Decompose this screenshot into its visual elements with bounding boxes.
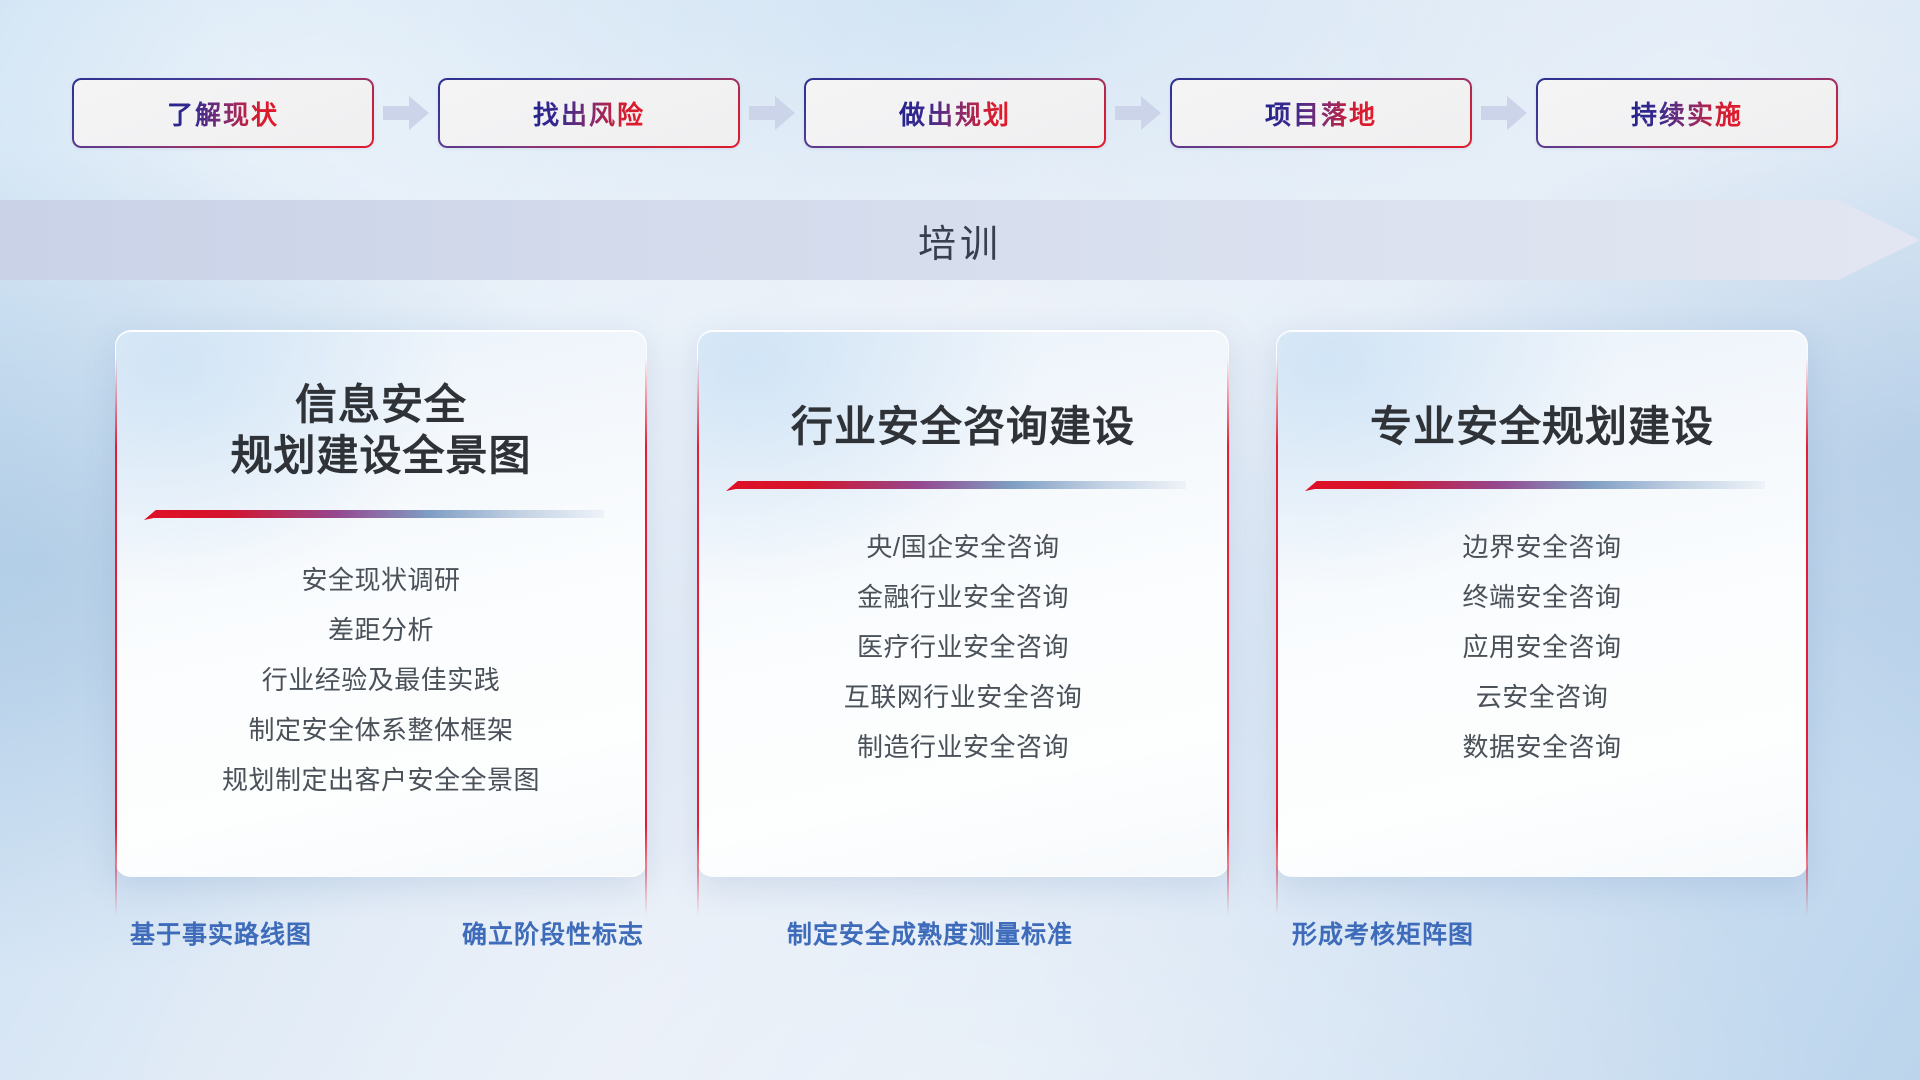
card-group: 信息安全 规划建设全景图 安全现状调研 差距分析 行 xyxy=(0,330,1920,880)
card-1-item-list: 安全现状调研 差距分析 行业经验及最佳实践 制定安全体系整体框架 规划制定出客户… xyxy=(116,521,646,805)
card-left-accent-edge xyxy=(115,357,117,916)
list-item: 互联网行业安全咨询 xyxy=(726,672,1200,722)
card-left-accent-edge xyxy=(697,357,699,916)
card-right-accent-edge xyxy=(1227,357,1229,916)
card-3-title: 专业安全规划建设 xyxy=(1277,331,1807,452)
process-step-2-label: 找出风险 xyxy=(533,95,645,132)
training-banner-label: 培训 xyxy=(0,200,1920,280)
process-step-1-label: 了解现状 xyxy=(167,95,279,132)
card-right-accent-edge xyxy=(645,357,647,916)
training-banner: 培训 xyxy=(0,200,1920,280)
process-step-5-label: 持续实施 xyxy=(1631,95,1743,132)
chevron-right-arrow-icon-2 xyxy=(740,78,804,148)
card-1-divider xyxy=(144,509,604,521)
card-information-security-blueprint[interactable]: 信息安全 规划建设全景图 安全现状调研 差距分析 行 xyxy=(115,330,647,877)
process-step-3[interactable]: 做出规划 xyxy=(804,78,1106,148)
card-left-accent-edge xyxy=(1276,357,1278,916)
card-1-title: 信息安全 规划建设全景图 xyxy=(116,331,646,481)
chevron-right-arrow-icon-3 xyxy=(1106,78,1170,148)
card-right-accent-edge xyxy=(1806,357,1808,916)
list-item: 终端安全咨询 xyxy=(1305,572,1779,622)
card-3-divider xyxy=(1305,480,1765,492)
list-item: 差距分析 xyxy=(144,605,618,655)
process-step-4[interactable]: 项目落地 xyxy=(1170,78,1472,148)
chevron-right-arrow-icon-4 xyxy=(1472,78,1536,148)
list-item: 医疗行业安全咨询 xyxy=(726,622,1200,672)
card-2-item-list: 央/国企安全咨询 金融行业安全咨询 医疗行业安全咨询 互联网行业安全咨询 制造行… xyxy=(698,492,1228,772)
footnote-row: 基于事实路线图 确立阶段性标志 制定安全成熟度测量标准 形成考核矩阵图 xyxy=(0,915,1920,959)
process-step-row: 了解现状 找出风险 做出规划 项目落地 持续实施 xyxy=(72,78,1848,148)
card-3-item-list: 边界安全咨询 终端安全咨询 应用安全咨询 云安全咨询 数据安全咨询 xyxy=(1277,492,1807,772)
process-step-2[interactable]: 找出风险 xyxy=(438,78,740,148)
card-professional-security-planning[interactable]: 专业安全规划建设 边界安全咨询 终端安全咨询 应用安 xyxy=(1276,330,1808,877)
list-item: 制定安全体系整体框架 xyxy=(144,705,618,755)
footnote-fact-roadmap: 基于事实路线图 xyxy=(130,915,312,951)
footnote-stage-milestones: 确立阶段性标志 xyxy=(462,915,644,951)
list-item: 边界安全咨询 xyxy=(1305,522,1779,572)
list-item: 应用安全咨询 xyxy=(1305,622,1779,672)
footnote-assessment-matrix: 形成考核矩阵图 xyxy=(1292,915,1474,951)
list-item: 安全现状调研 xyxy=(144,555,618,605)
card-2-title: 行业安全咨询建设 xyxy=(698,331,1228,452)
card-2-divider xyxy=(726,480,1186,492)
list-item: 制造行业安全咨询 xyxy=(726,722,1200,772)
process-step-4-label: 项目落地 xyxy=(1265,95,1377,132)
process-step-5[interactable]: 持续实施 xyxy=(1536,78,1838,148)
footnote-maturity-standard: 制定安全成熟度测量标准 xyxy=(787,915,1073,951)
chevron-right-arrow-icon-1 xyxy=(374,78,438,148)
list-item: 行业经验及最佳实践 xyxy=(144,655,618,705)
list-item: 金融行业安全咨询 xyxy=(726,572,1200,622)
card-industry-security-consulting[interactable]: 行业安全咨询建设 央/国企安全咨询 金融行业安全咨询 xyxy=(697,330,1229,877)
process-step-3-label: 做出规划 xyxy=(899,95,1011,132)
list-item: 规划制定出客户安全全景图 xyxy=(144,755,618,805)
list-item: 云安全咨询 xyxy=(1305,672,1779,722)
list-item: 央/国企安全咨询 xyxy=(726,522,1200,572)
list-item: 数据安全咨询 xyxy=(1305,722,1779,772)
process-step-1[interactable]: 了解现状 xyxy=(72,78,374,148)
